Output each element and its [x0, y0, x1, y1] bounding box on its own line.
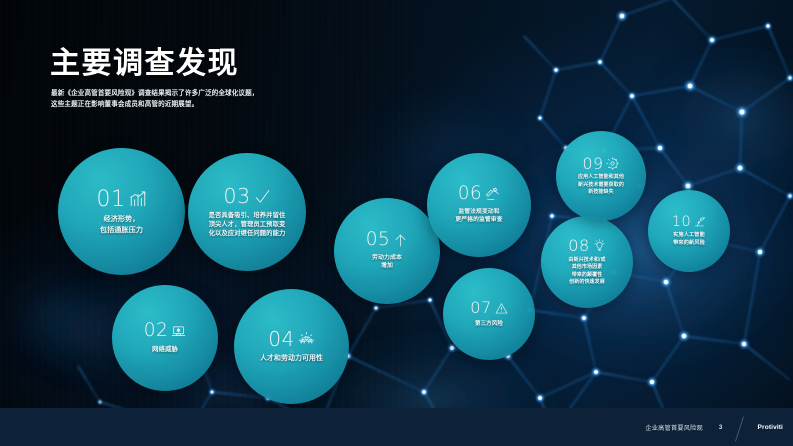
finding-label-line: 实施人工智能 — [673, 232, 705, 240]
arrow-up-icon — [393, 233, 408, 248]
finding-label-line: 顶尖人才，管理员工预取变 — [209, 220, 286, 229]
gear-ai-icon — [606, 157, 619, 170]
finding-label: 第三方风险 — [475, 320, 503, 328]
finding-label: 是否具备吸引、培养并留住顶尖人才，管理员工预取变化以及应对继任问题的能力 — [209, 211, 286, 238]
finding-label: 劳动力成本增加 — [372, 254, 402, 271]
finding-number: 09 — [583, 156, 604, 172]
finding-bubble-header: 08 — [568, 238, 605, 254]
protiviti-logo: Protiviti — [758, 424, 783, 431]
finding-bubble-10[interactable]: 10 实施人工智能带来的新风险 — [648, 190, 730, 272]
finding-bubble-05[interactable]: 05 劳动力成本增加 — [334, 198, 440, 304]
page-subtitle: 最新《企业高管首要风险观》调查结果揭示了许多广泛的全球化议题， 这些主题正在影响… — [51, 88, 259, 110]
finding-label-line: 增加 — [372, 262, 402, 271]
finding-label-line: 新兴技术需要获取的 — [578, 182, 624, 189]
finding-label: 实施人工智能带来的新风险 — [673, 232, 705, 247]
finding-bubble-04[interactable]: 04 人才和劳动力可用性 — [234, 289, 349, 404]
finding-label-line: 其他市场因素 — [568, 264, 605, 271]
finding-number: 05 — [366, 231, 391, 250]
finding-label-line: 是否具备吸引、培养并留住 — [209, 211, 286, 220]
finding-bubble-02[interactable]: 02 网络威胁 — [112, 285, 218, 391]
subtitle-line-2: 这些主题正在影响董事会成员和高管的近期展望。 — [51, 99, 259, 110]
finding-label-line: 经济形势， — [100, 214, 143, 224]
finding-label-line: 网络威胁 — [152, 345, 178, 354]
footer-content: 企业高管首要风险观 3 Protiviti — [645, 408, 783, 446]
finding-number: 03 — [223, 186, 250, 207]
footer-page-number: 3 — [719, 424, 723, 431]
finding-bubble-01[interactable]: 01 经济形势，包括通胀压力 — [58, 148, 185, 275]
finding-label-line: 人才和劳动力可用性 — [260, 354, 323, 364]
finding-bubble-header: 03 — [223, 186, 270, 207]
people-gear-icon — [298, 331, 315, 348]
finding-bubble-header: 04 — [268, 329, 315, 349]
finding-label-line: 带来的颠覆性 — [568, 272, 605, 279]
finding-bubble-header: 07 — [470, 300, 507, 316]
finding-bubble-header: 06 — [458, 185, 500, 203]
finding-bubble-header: 05 — [366, 231, 409, 250]
check-mark-icon — [254, 188, 271, 205]
finding-bubble-header: 02 — [144, 322, 187, 341]
finding-label-line: 劳动力成本 — [372, 254, 402, 263]
finding-label: 由新兴技术和/或其他市场因素带来的颠覆性创新的快速发展 — [568, 257, 605, 286]
finding-bubble-06[interactable]: 06 监管法规变动和更严格的监管审查 — [427, 153, 531, 257]
finding-number: 04 — [268, 329, 295, 349]
finding-label: 人才和劳动力可用性 — [260, 354, 323, 364]
finding-number: 02 — [144, 322, 169, 341]
finding-number: 10 — [672, 215, 691, 229]
finding-bubble-03[interactable]: 03 是否具备吸引、培养并留住顶尖人才，管理员工预取变化以及应对继任问题的能力 — [188, 153, 306, 271]
finding-label-line: 创新的快速发展 — [568, 279, 605, 286]
finding-label-line: 包括通胀压力 — [100, 225, 143, 235]
finding-number: 06 — [458, 185, 482, 203]
finding-label-line: 应用人工智能和其他 — [578, 174, 624, 181]
finding-label: 网络威胁 — [152, 345, 178, 354]
finding-bubble-09[interactable]: 09 应用人工智能和其他新兴技术需要获取的新技能缺失 — [556, 131, 646, 221]
finding-bubble-07[interactable]: 07 第三方风险 — [443, 268, 535, 360]
footer-bar: 企业高管首要风险观 3 Protiviti — [0, 408, 793, 446]
finding-number: 01 — [96, 188, 125, 210]
finding-label-line: 新技能缺失 — [578, 189, 624, 196]
finding-label-line: 带来的新风险 — [673, 240, 705, 248]
finding-bubble-08[interactable]: 08 由新兴技术和/或其他市场因素带来的颠覆性创新的快速发展 — [541, 216, 633, 308]
finding-number: 08 — [568, 238, 589, 254]
finding-label-line: 更严格的监管审查 — [455, 216, 502, 224]
page-title: 主要调查发现 — [50, 38, 239, 82]
warning-triangle-icon — [495, 302, 508, 315]
laptop-security-icon — [171, 324, 186, 339]
footer-divider — [735, 416, 744, 441]
footer-document-title: 企业高管首要风险观 — [645, 423, 703, 432]
subtitle-line-1: 最新《企业高管首要风险观》调查结果揭示了许多广泛的全球化议题， — [51, 88, 259, 99]
finding-label-line: 第三方风险 — [475, 320, 503, 328]
lightbulb-icon — [593, 239, 606, 252]
finding-bubble-header: 01 — [96, 188, 146, 210]
slide-canvas: 主要调查发现 最新《企业高管首要风险观》调查结果揭示了许多广泛的全球化议题， 这… — [0, 0, 793, 446]
finding-bubble-header: 09 — [583, 156, 620, 172]
bar-chart-trend-icon — [129, 190, 147, 208]
finding-bubble-header: 10 — [672, 215, 706, 229]
finding-label-line: 化以及应对继任问题的能力 — [209, 229, 286, 238]
robot-arm-icon — [694, 216, 706, 228]
gavel-icon — [485, 187, 500, 202]
finding-number: 07 — [470, 300, 491, 316]
finding-label-line: 监管法规变动和 — [455, 208, 502, 216]
finding-label: 监管法规变动和更严格的监管审查 — [455, 208, 502, 225]
finding-label: 应用人工智能和其他新兴技术需要获取的新技能缺失 — [578, 174, 624, 196]
finding-label: 经济形势，包括通胀压力 — [100, 214, 143, 235]
